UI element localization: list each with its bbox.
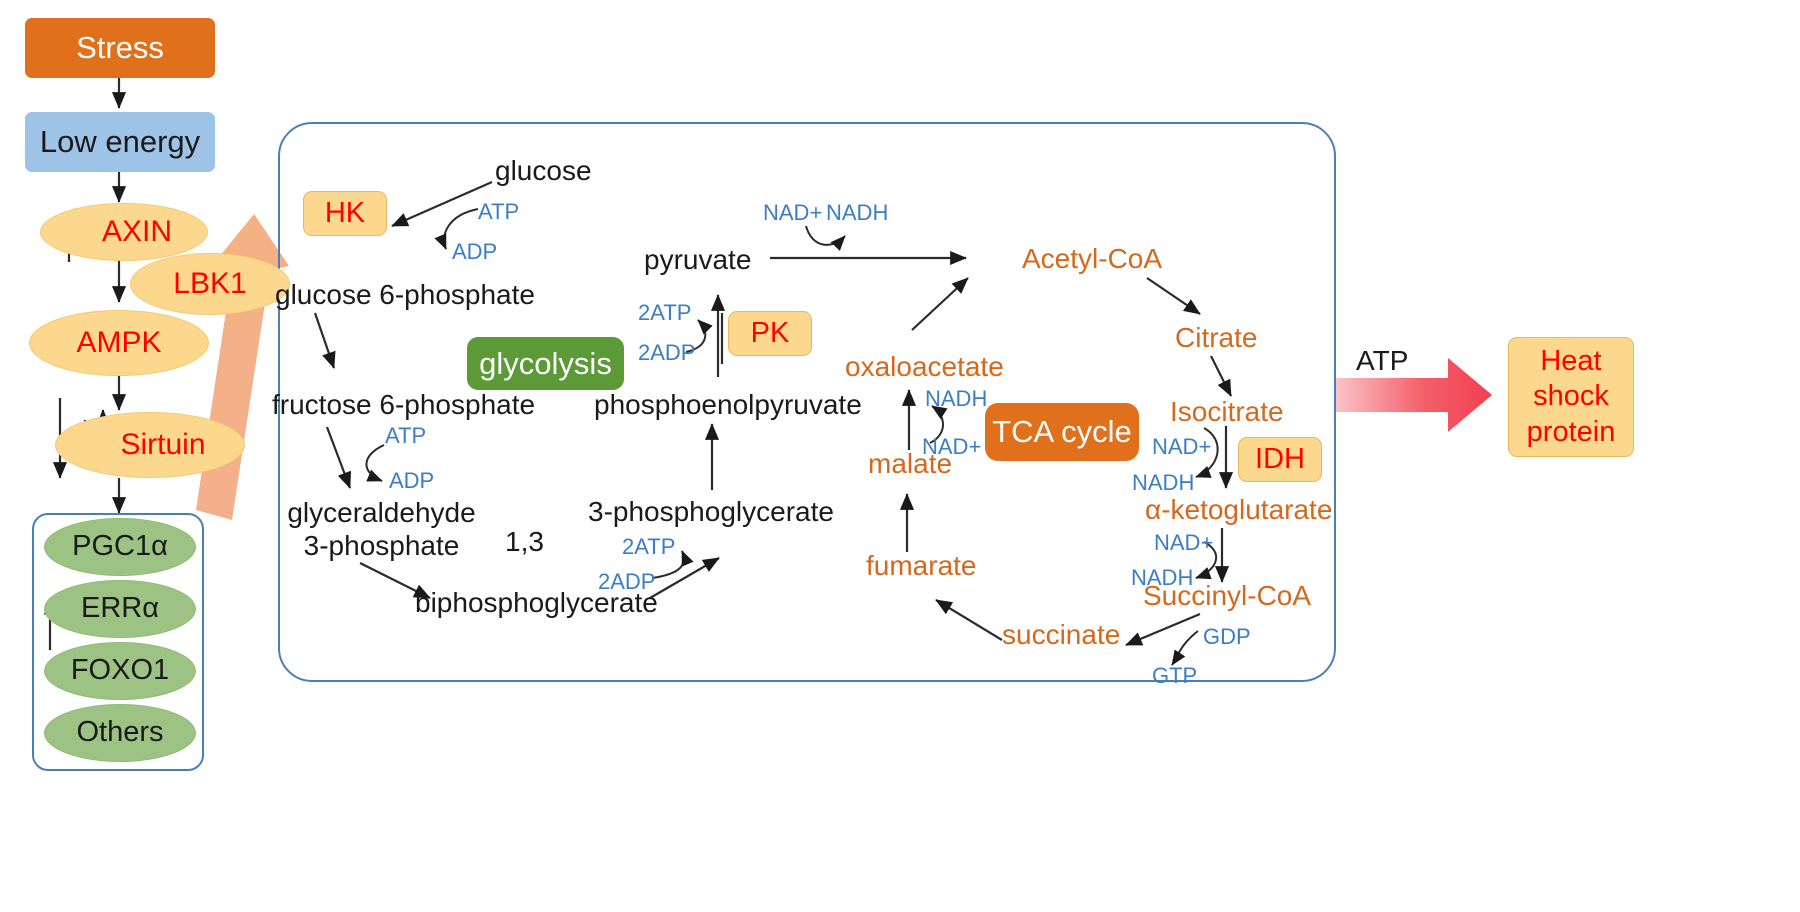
metabolite-fructose-6-phosphate: fructose 6-phosphate bbox=[272, 388, 535, 421]
metabolite-acetyl-coa: Acetyl-CoA bbox=[1022, 243, 1162, 275]
metabolite-phosphoenolpyruvate: phosphoenolpyruvate bbox=[594, 388, 862, 421]
metabolite-isocitrate: Isocitrate bbox=[1170, 396, 1284, 428]
hsp-line-2: shock bbox=[1533, 379, 1609, 414]
enzyme-label: HK bbox=[325, 197, 365, 230]
enzyme-hk-box[interactable]: HK bbox=[303, 191, 387, 236]
stress-label: Stress bbox=[76, 30, 164, 66]
pathway-diagram-canvas: Stress Low energy AXIN LBK1 AMPK Sirtuin… bbox=[0, 0, 1800, 912]
hsp-line-1: Heat bbox=[1540, 344, 1601, 379]
transcription-factor-pgc1a[interactable]: PGC1α bbox=[44, 518, 196, 576]
cofactor-nadh-idh: NADH bbox=[1132, 470, 1194, 496]
metabolite-1-3-prefix: 1,3 bbox=[505, 525, 544, 558]
heat-shock-protein-box[interactable]: Heat shock protein bbox=[1508, 337, 1634, 457]
lbk1-label: LBK1 bbox=[173, 267, 246, 302]
tca-cycle-label: TCA cycle bbox=[992, 414, 1132, 450]
cofactor-2adp-pk: 2ADP bbox=[638, 340, 695, 366]
metabolite-3-phosphoglycerate: 3-phosphoglycerate bbox=[588, 495, 834, 528]
glycolysis-pathway-badge[interactable]: glycolysis bbox=[467, 337, 624, 390]
lbk1-node[interactable]: LBK1 bbox=[130, 253, 290, 315]
low-energy-box[interactable]: Low energy bbox=[25, 112, 215, 172]
metabolite-citrate: Citrate bbox=[1175, 322, 1257, 354]
cofactor-nad-plus-idh: NAD+ bbox=[1152, 434, 1211, 460]
metabolite-glyceraldehyde-3-phosphate: glyceraldehyde 3-phosphate bbox=[279, 496, 484, 562]
tf-label: FOXO1 bbox=[71, 654, 169, 687]
metabolite-pyruvate: pyruvate bbox=[644, 243, 751, 276]
metabolite-glucose: glucose bbox=[495, 154, 592, 187]
cofactor-adp-pfk: ADP bbox=[389, 468, 434, 494]
metabolite-oxaloacetate: oxaloacetate bbox=[845, 351, 1004, 383]
cofactor-2atp-pk: 2ATP bbox=[638, 300, 691, 326]
transcription-factor-foxo1[interactable]: FOXO1 bbox=[44, 642, 196, 700]
enzyme-pk-box[interactable]: PK bbox=[728, 311, 812, 356]
cofactor-nadh-mdh: NADH bbox=[925, 386, 987, 412]
cofactor-gtp: GTP bbox=[1152, 663, 1197, 689]
enzyme-label: PK bbox=[751, 317, 790, 350]
axin-label: AXIN bbox=[102, 215, 172, 250]
cofactor-2atp-pgk: 2ATP bbox=[622, 534, 675, 560]
cofactor-2adp-pgk: 2ADP bbox=[598, 569, 655, 595]
axin-node[interactable]: AXIN bbox=[40, 203, 208, 261]
ampk-node[interactable]: AMPK bbox=[29, 310, 209, 376]
atp-output-label: ATP bbox=[1356, 344, 1408, 377]
hsp-line-3: protein bbox=[1527, 415, 1616, 450]
transcription-factor-erra[interactable]: ERRα bbox=[44, 580, 196, 638]
cofactor-nad-plus-akgdh: NAD+ bbox=[1154, 530, 1213, 556]
tf-label: ERRα bbox=[81, 592, 159, 625]
metabolite-glucose-6-phosphate: glucose 6-phosphate bbox=[275, 278, 535, 311]
transcription-factor-others[interactable]: Others bbox=[44, 704, 196, 762]
glycolysis-label: glycolysis bbox=[479, 346, 612, 382]
cofactor-nad-plus-pdh: NAD+ bbox=[763, 200, 822, 226]
cofactor-nad-plus-mdh: NAD+ bbox=[922, 434, 981, 460]
cofactor-atp-pfk: ATP bbox=[385, 423, 426, 449]
low-energy-label: Low energy bbox=[40, 124, 200, 160]
tf-label: PGC1α bbox=[72, 530, 168, 563]
sirtuin-label: Sirtuin bbox=[120, 428, 205, 463]
stress-box[interactable]: Stress bbox=[25, 18, 215, 78]
cofactor-gdp: GDP bbox=[1203, 624, 1251, 650]
tf-label: Others bbox=[76, 716, 163, 749]
cofactor-nadh-pdh: NADH bbox=[826, 200, 888, 226]
sirtuin-node[interactable]: Sirtuin bbox=[55, 412, 245, 478]
enzyme-idh-box[interactable]: IDH bbox=[1238, 437, 1322, 482]
tca-cycle-badge[interactable]: TCA cycle bbox=[985, 403, 1139, 461]
metabolite-alpha-ketoglutarate: α-ketoglutarate bbox=[1145, 494, 1332, 526]
metabolite-fumarate: fumarate bbox=[866, 550, 977, 582]
metabolite-succinate: succinate bbox=[1002, 619, 1120, 651]
cofactor-adp-hk: ADP bbox=[452, 239, 497, 265]
cofactor-nadh-akgdh: NADH bbox=[1131, 565, 1193, 591]
ampk-label: AMPK bbox=[76, 326, 161, 361]
enzyme-label: IDH bbox=[1255, 443, 1305, 476]
cofactor-atp-hk: ATP bbox=[478, 199, 519, 225]
